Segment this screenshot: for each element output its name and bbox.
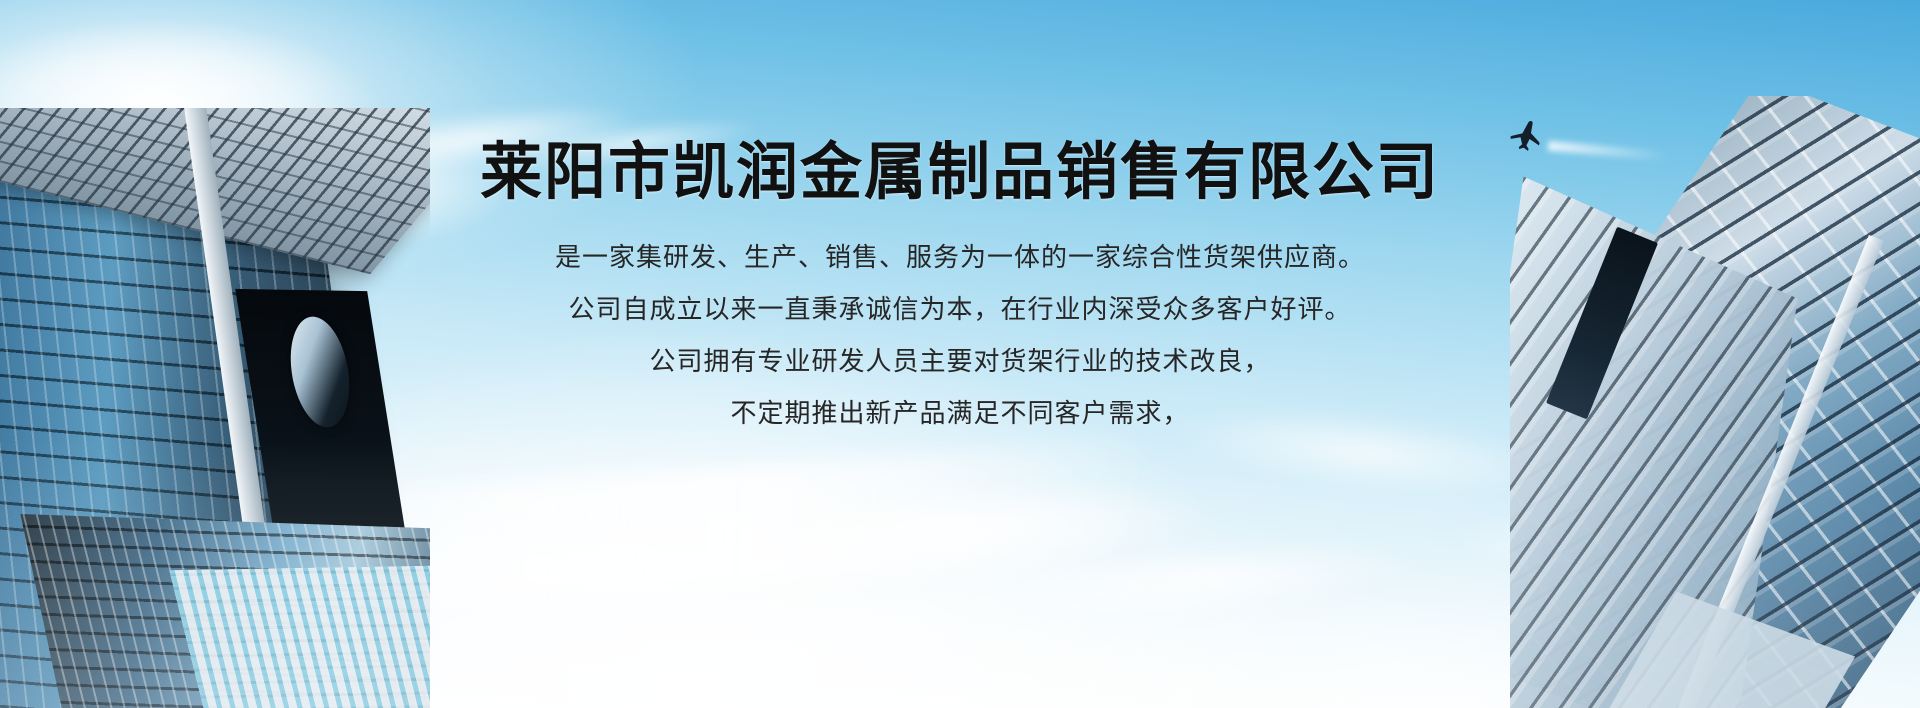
company-description: 是一家集研发、生产、销售、服务为一体的一家综合性货架供应商。 公司自成立以来一直… [0,206,1920,440]
description-line-4: 不定期推出新产品满足不同客户需求， [0,388,1920,440]
company-title: 莱阳市凯润金属制品销售有限公司 [0,0,1920,206]
description-line-2: 公司自成立以来一直秉承诚信为本，在行业内深受众多客户好评。 [0,284,1920,336]
company-hero-banner: 莱阳市凯润金属制品销售有限公司 是一家集研发、生产、销售、服务为一体的一家综合性… [0,0,1920,708]
description-line-3: 公司拥有专业研发人员主要对货架行业的技术改良， [0,336,1920,388]
banner-content: 莱阳市凯润金属制品销售有限公司 是一家集研发、生产、销售、服务为一体的一家综合性… [0,0,1920,440]
description-line-1: 是一家集研发、生产、销售、服务为一体的一家综合性货架供应商。 [0,232,1920,284]
